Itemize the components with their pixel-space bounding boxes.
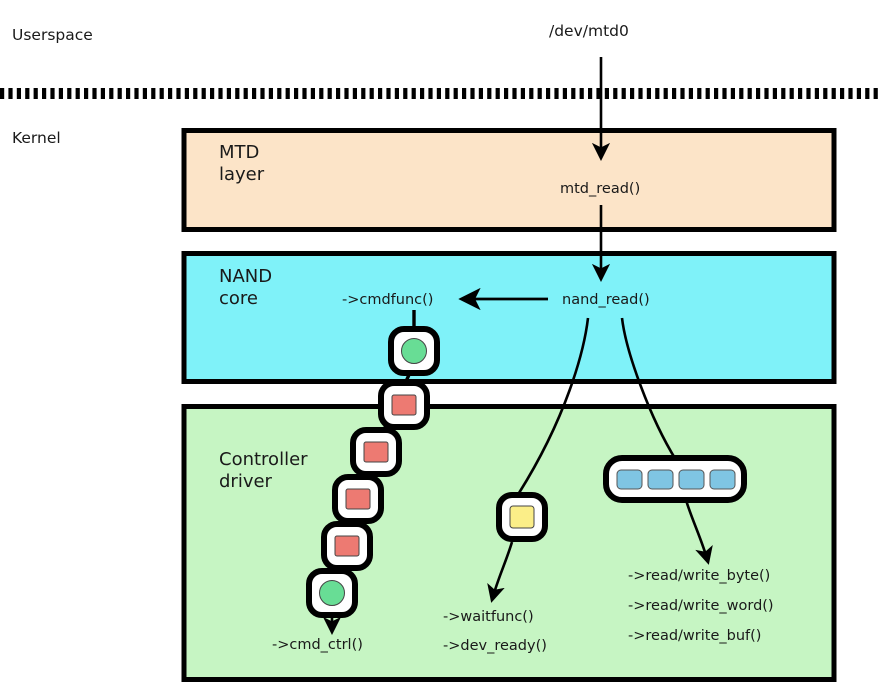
zone-label-userspace: Userspace: [12, 26, 93, 45]
node-glyph-square: [335, 536, 359, 556]
chain-node-3: [335, 477, 381, 521]
mtd-layer-title-line1: MTD: [219, 142, 259, 164]
node-glyph-square: [346, 489, 370, 509]
diagram-canvas: Userspace Kernel /dev/mtd0 MTD layer mtd…: [0, 0, 881, 690]
fn-waitfunc: ->waitfunc(): [443, 608, 534, 626]
fn-read-write-word: ->read/write_word(): [628, 597, 774, 615]
fn-nand-read: nand_read(): [562, 291, 650, 309]
iobus-cell: [617, 470, 642, 489]
controller-driver-title-line1: Controller: [219, 449, 308, 471]
fn-mtd-read: mtd_read(): [560, 180, 640, 198]
entry-point-label: /dev/mtd0: [549, 22, 629, 41]
diagram-graphics: [0, 0, 881, 690]
zone-label-kernel: Kernel: [12, 129, 61, 148]
chain-node-4: [324, 524, 370, 568]
mtd-layer-title-line2: layer: [219, 164, 264, 186]
fn-cmd-ctrl: ->cmd_ctrl(): [272, 636, 363, 654]
iobus-node: [606, 458, 744, 500]
mtd-layer-box: [184, 131, 834, 230]
fn-read-write-byte: ->read/write_byte(): [628, 567, 770, 585]
node-glyph-square: [364, 442, 388, 462]
iobus-cell: [679, 470, 704, 489]
chain-node-5: [309, 571, 355, 615]
chain-node-2: [353, 430, 399, 474]
node-glyph-circle: [320, 581, 345, 606]
nand-core-title-line2: core: [219, 288, 258, 310]
fn-dev-ready: ->dev_ready(): [443, 637, 547, 655]
controller-driver-title-line2: driver: [219, 471, 272, 493]
fn-cmdfunc: ->cmdfunc(): [342, 291, 433, 309]
node-glyph-square: [510, 506, 534, 528]
nand-core-title-line1: NAND: [219, 266, 272, 288]
node-glyph-square: [392, 395, 416, 415]
chain-node-1: [381, 383, 427, 427]
iobus-cell: [710, 470, 735, 489]
cmdfunc-node: [391, 329, 437, 373]
iobus-cell: [648, 470, 673, 489]
fn-read-write-buf: ->read/write_buf(): [628, 627, 761, 645]
node-glyph-circle: [402, 339, 427, 364]
waitfunc-node: [499, 495, 545, 539]
nand-core-box: [184, 254, 834, 382]
